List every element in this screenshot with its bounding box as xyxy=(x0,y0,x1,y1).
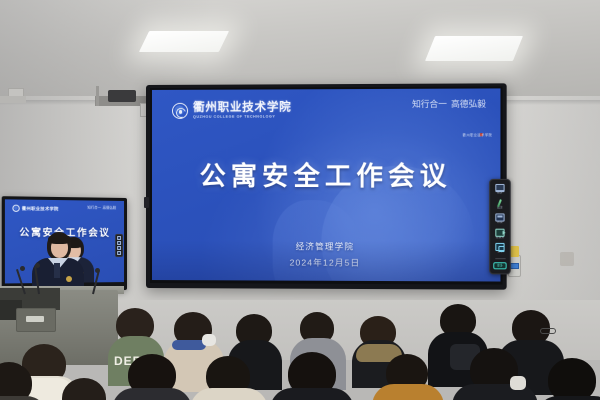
display-bezel: 衢州职业技术学院 QUZHOU COLLEGE OF TECHNOLOGY 高德… xyxy=(150,86,503,284)
person-glasses-icon xyxy=(540,328,556,334)
wall-pole xyxy=(96,86,99,106)
sm-motto-line-1: 高德弘毅 xyxy=(103,206,117,210)
cast-icon xyxy=(495,243,504,251)
window-icon xyxy=(495,214,504,222)
microphone-head-3 xyxy=(95,268,100,273)
sm-motto-line-2: 知行合一 xyxy=(87,206,101,210)
screen-icon xyxy=(495,184,504,192)
display-side-button[interactable] xyxy=(144,197,149,208)
sm-window-icon[interactable] xyxy=(117,246,121,250)
person-torso xyxy=(536,396,600,400)
person-torso xyxy=(270,388,354,400)
university-name-cn: 衢州职业技术学院 xyxy=(193,102,291,114)
sm-camera-icon[interactable] xyxy=(117,251,121,255)
sm-pen-icon[interactable] xyxy=(117,241,121,245)
person-torso xyxy=(372,384,444,400)
person-torso xyxy=(112,388,192,400)
speaker-badge xyxy=(66,276,72,282)
wall-fixture-b xyxy=(0,96,26,103)
university-name-block: 衢州职业技术学院 QUZHOU COLLEGE OF TECHNOLOGY xyxy=(193,102,291,119)
microphone-head-2 xyxy=(35,263,40,268)
ceiling-light-right-icon xyxy=(425,36,523,61)
university-name-en: QUZHOU COLLEGE OF TECHNOLOGY xyxy=(193,116,291,120)
sm-screen-icon[interactable] xyxy=(117,236,121,240)
sm-toolbar[interactable] xyxy=(115,234,123,257)
wall-equipment-box xyxy=(108,90,136,102)
toolbar-label-window: 白板 xyxy=(497,222,503,225)
person-head xyxy=(548,358,596,400)
toolbar-item-cast[interactable]: 空中 xyxy=(491,242,509,255)
sm-university-seal-icon xyxy=(12,205,19,212)
main-display[interactable]: 衢州职业技术学院 QUZHOU COLLEGE OF TECHNOLOGY 高德… xyxy=(146,83,507,289)
motto-line-1: 高德弘毅 xyxy=(451,100,486,110)
wall-mark xyxy=(560,252,574,266)
toolbar-item-camera[interactable]: 摄像头 xyxy=(491,227,509,240)
person-mask xyxy=(510,376,526,390)
wall-switch-button[interactable] xyxy=(510,263,519,269)
microphone-head-1 xyxy=(20,266,25,271)
conference-room-scene: 衢州职业技术学院 QUZHOU COLLEGE OF TECHNOLOGY 高德… xyxy=(0,0,600,400)
toolbar-item-pen[interactable]: 批注 xyxy=(491,198,509,211)
audience-area: DERE xyxy=(0,300,600,400)
person-torso xyxy=(190,388,268,400)
toolbar-more-button[interactable]: 更多 xyxy=(493,262,506,269)
person-scarf xyxy=(172,340,206,350)
camera-icon xyxy=(495,228,504,236)
motto-line-2: 知行合一 xyxy=(412,100,447,110)
sm-university-name-cn: 衢州职业技术学院 xyxy=(22,205,59,212)
toolbar-divider xyxy=(495,258,505,259)
presentation-slide: 衢州职业技术学院 QUZHOU COLLEGE OF TECHNOLOGY 高德… xyxy=(152,88,500,281)
sm-motto: 高德弘毅 知行合一 xyxy=(87,206,116,210)
university-logo: 衢州职业技术学院 QUZHOU COLLEGE OF TECHNOLOGY xyxy=(172,102,291,119)
person-mask xyxy=(202,334,216,346)
slide-title: 公寓安全工作会议 xyxy=(152,156,500,194)
ceiling-light-left-icon xyxy=(139,31,229,52)
toolbar-item-screen[interactable]: 投屏 xyxy=(491,183,509,196)
speaker-tie xyxy=(54,263,60,278)
motto-calligraphy: 高德弘毅 知行合一 xyxy=(412,100,486,110)
motto-signature: 衢州职业技术学院 xyxy=(463,132,493,137)
toolbar-item-window[interactable]: 白板 xyxy=(491,213,509,226)
slide-bottom-vignette xyxy=(152,240,500,282)
university-seal-icon xyxy=(172,103,188,119)
pen-icon xyxy=(495,199,504,207)
display-toolbar[interactable]: 投屏 批注 白板 摄像头 空中 更多 xyxy=(489,179,511,275)
toolbar-label-camera: 摄像头 xyxy=(496,237,504,240)
speaker-hair xyxy=(48,234,71,244)
wall-shadow-right xyxy=(500,96,600,326)
sm-logo: 衢州职业技术学院 xyxy=(12,205,58,213)
toolbar-label-screen: 投屏 xyxy=(497,192,503,195)
